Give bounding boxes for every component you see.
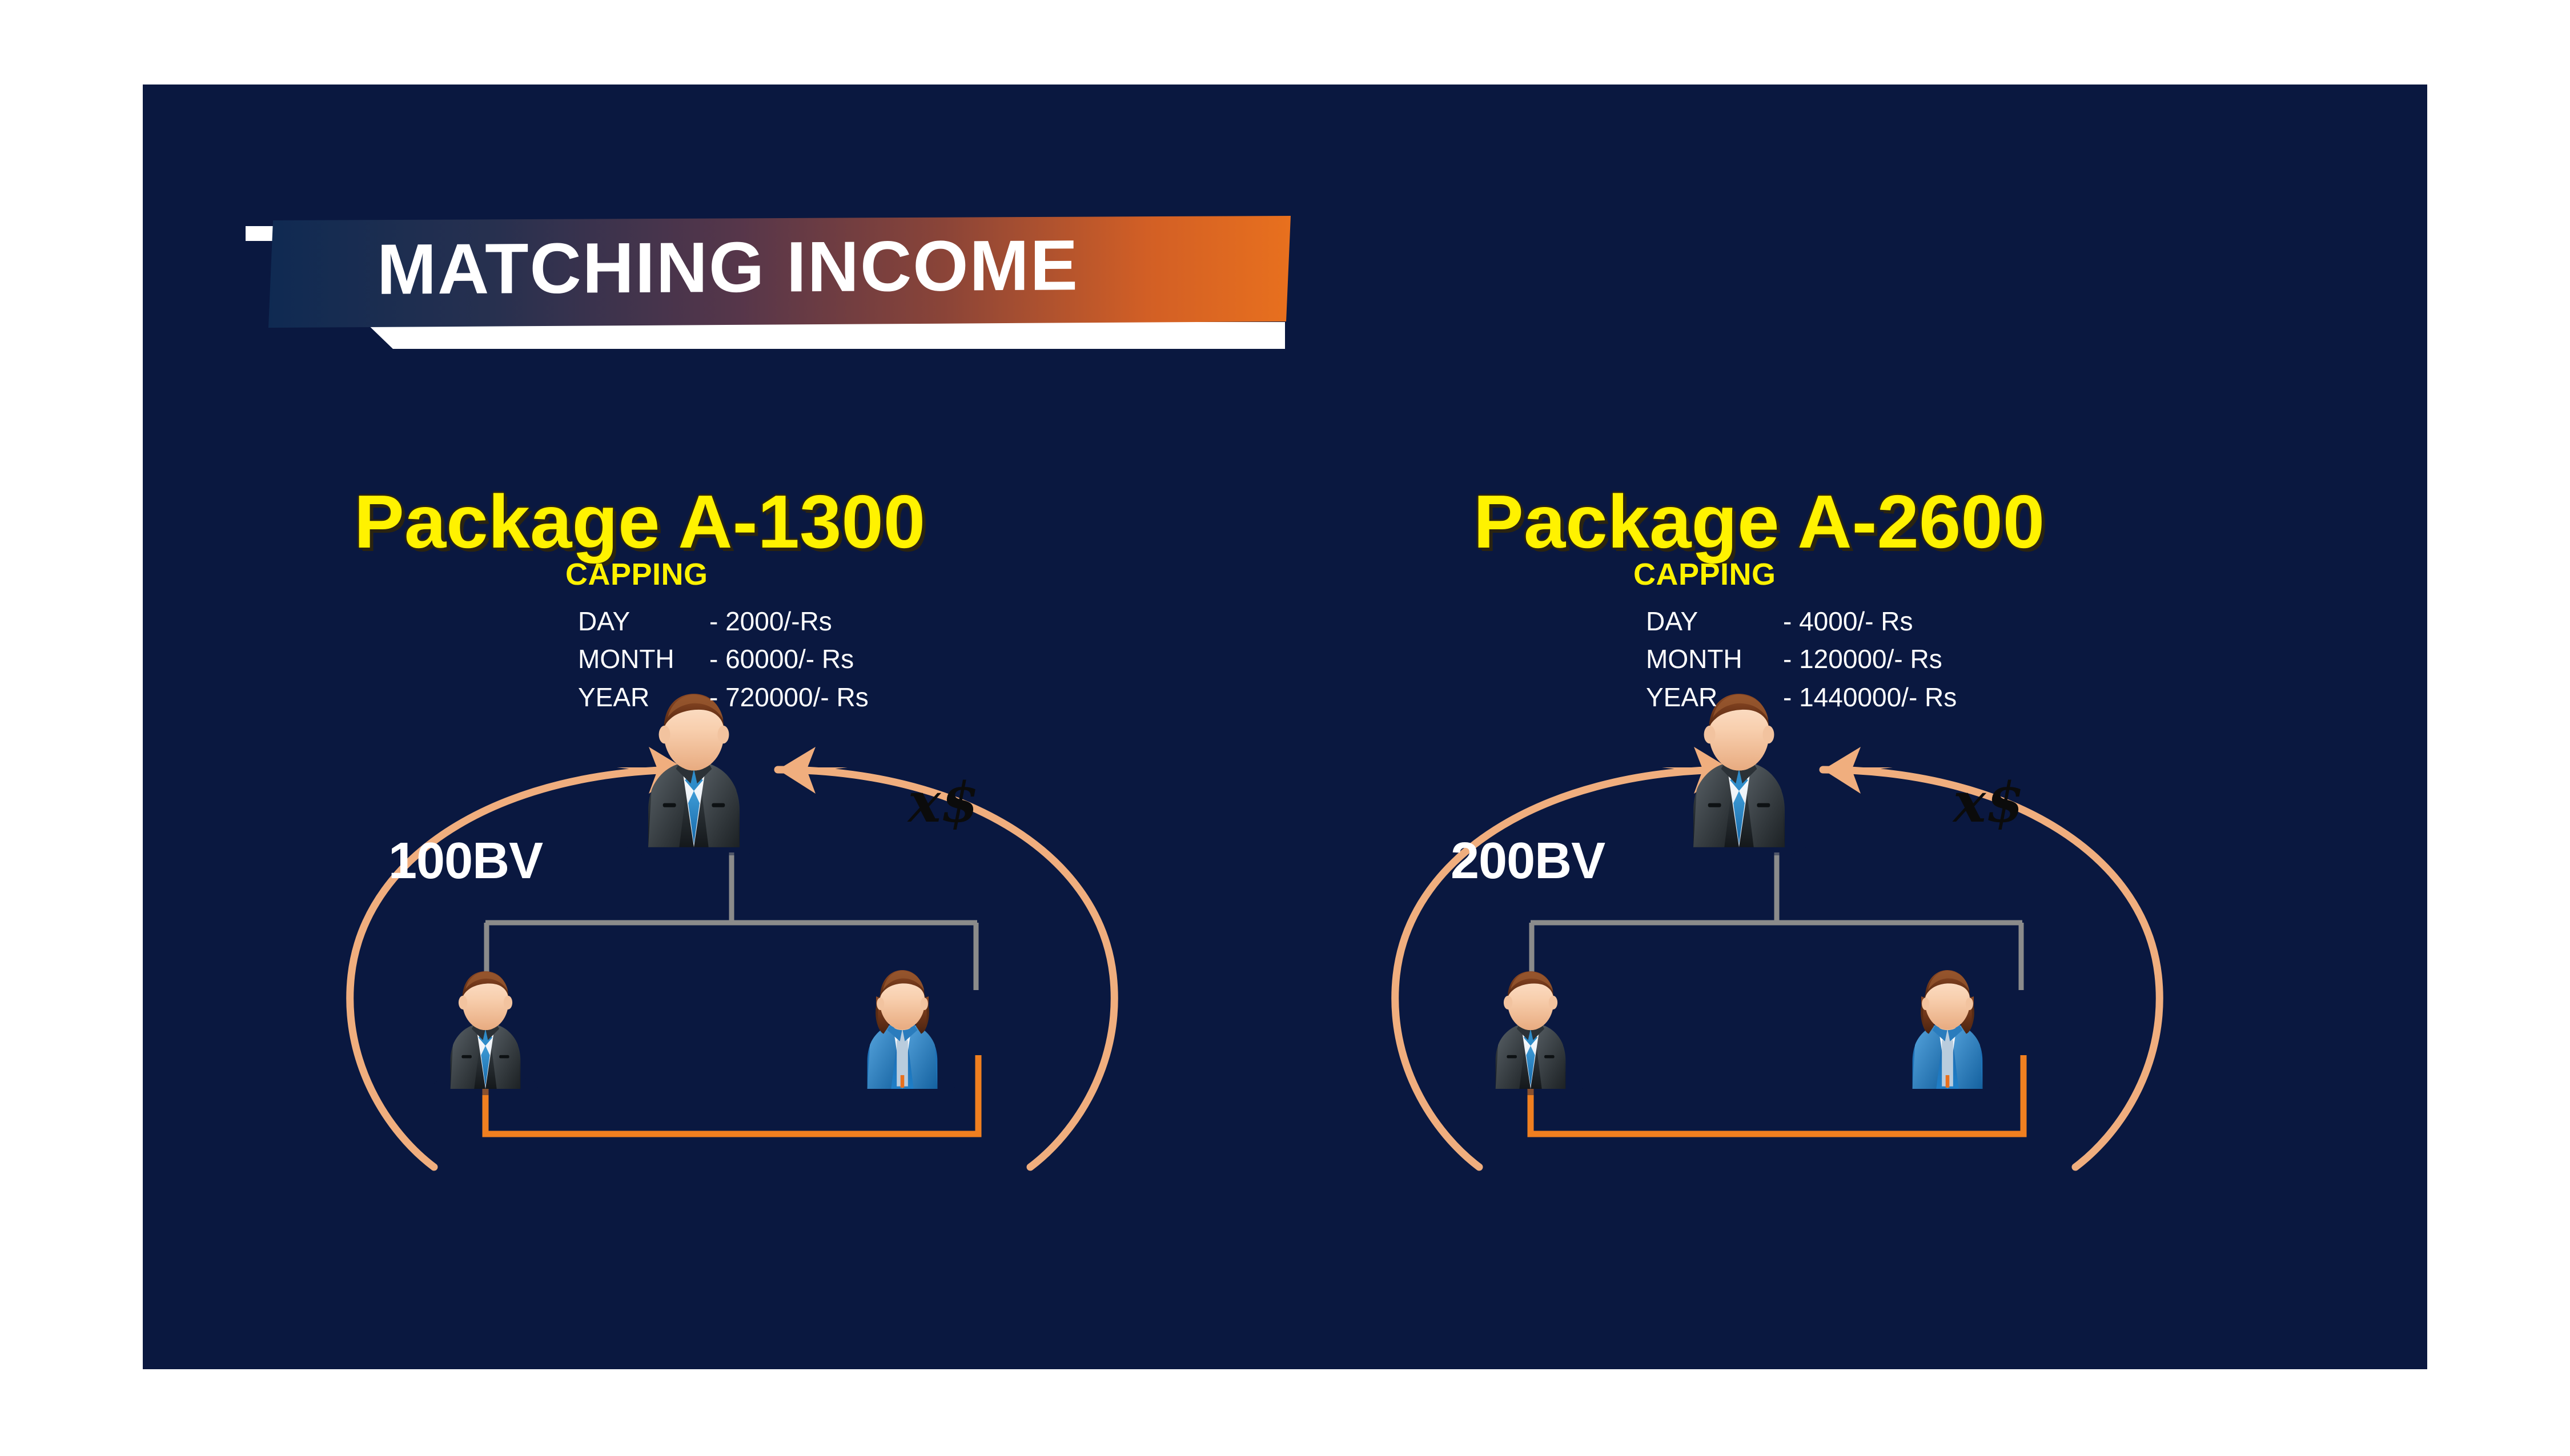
capping-row: YEAR - 1440000/- Rs: [1646, 678, 2067, 717]
capping-rows: DAY - 4000/- Rs MONTH - 120000/- Rs YEAR…: [1633, 602, 2067, 717]
capping-row: MONTH - 120000/- Rs: [1646, 640, 2067, 678]
capping-period: MONTH: [1646, 640, 1783, 678]
node-left-child-avatar: [423, 964, 548, 1095]
package-column-2: Package A-2600: [1291, 85, 2250, 1369]
capping-row: MONTH - 60000/- Rs: [578, 640, 999, 678]
bv-label: 100BV: [388, 835, 543, 887]
capping-period: YEAR: [578, 678, 709, 717]
capping-amount: - 2000/-Rs: [709, 602, 832, 641]
node-right-child-avatar: [840, 964, 965, 1095]
node-left-child-avatar: [1468, 964, 1593, 1095]
capping-amount: - 60000/- Rs: [709, 640, 854, 678]
capping-amount: - 1440000/- Rs: [1783, 678, 1957, 717]
capping-block: CAPPING DAY - 4000/- Rs MONTH - 120000/-…: [1633, 558, 2067, 717]
package-column-1: Package A-1300: [246, 85, 1205, 1369]
capping-period: MONTH: [578, 640, 709, 678]
capping-amount: - 4000/- Rs: [1783, 602, 1913, 641]
node-right-child-avatar: [1885, 964, 2010, 1095]
capping-period: DAY: [1646, 602, 1783, 641]
capping-heading: CAPPING: [1633, 558, 2067, 591]
capping-row: DAY - 2000/-Rs: [578, 602, 999, 641]
capping-rows: DAY - 2000/-Rs MONTH - 60000/- Rs YEAR -…: [565, 602, 999, 717]
matching-diagram: 200BV x$: [1365, 678, 2119, 1192]
money-symbol-icon: x$: [1953, 775, 2024, 830]
money-symbol-icon: x$: [908, 775, 979, 830]
capping-amount: - 720000/- Rs: [709, 678, 869, 717]
bv-label: 200BV: [1451, 835, 1605, 887]
capping-amount: - 120000/- Rs: [1783, 640, 1942, 678]
capping-heading: CAPPING: [565, 558, 999, 591]
capping-period: YEAR: [1646, 678, 1783, 717]
capping-row: YEAR - 720000/- Rs: [578, 678, 999, 717]
package-title: Package A-1300: [257, 484, 1022, 560]
capping-period: DAY: [578, 602, 709, 641]
capping-row: DAY - 4000/- Rs: [1646, 602, 2067, 641]
capping-block: CAPPING DAY - 2000/-Rs MONTH - 60000/- R…: [565, 558, 999, 717]
slide-panel: MATCHING INCOME Package A-1300: [143, 85, 2427, 1369]
matching-diagram: 100BV x$: [320, 678, 1074, 1192]
package-title: Package A-2600: [1376, 484, 2142, 560]
